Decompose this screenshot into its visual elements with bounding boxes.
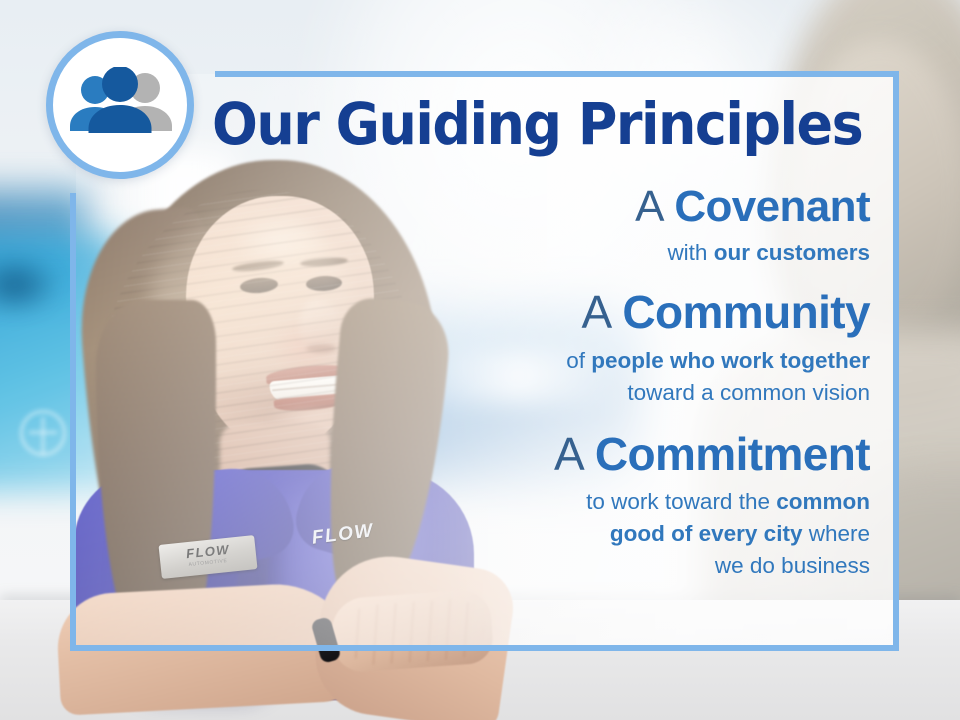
principle-subtext-line: toward a common vision <box>260 377 870 409</box>
principle-subtext-line: to work toward the common <box>260 486 870 518</box>
principle-word: Commitment <box>595 428 870 480</box>
principle-community: A Community of people who work together … <box>260 287 870 408</box>
subtext-segment: we do business <box>715 553 870 578</box>
principle-subtext-line: good of every city where <box>260 518 870 550</box>
frame-border-bottom <box>70 645 899 651</box>
principle-subtext: of people who work together toward a com… <box>260 345 870 409</box>
subtext-segment: toward a common vision <box>627 380 870 405</box>
principle-article: A <box>635 182 662 231</box>
principle-heading: A Community <box>260 287 870 339</box>
subtext-segment: of <box>566 348 591 373</box>
subtext-segment: to work toward the <box>586 489 776 514</box>
frame-border-left <box>70 193 76 651</box>
subtext-segment-bold: good of every city <box>610 521 803 546</box>
subtext-segment: with <box>667 240 713 265</box>
frame-border-top <box>215 71 899 77</box>
banner-image: FLOW AUTOMOTIVE FLOW Our Guid <box>0 0 960 720</box>
woman-finger-detail <box>342 597 486 667</box>
principle-commitment: A Commitment to work toward the common g… <box>260 429 870 582</box>
principle-word: Community <box>622 286 870 338</box>
principle-heading: A Covenant <box>260 182 870 231</box>
subtext-segment-bold: our customers <box>714 240 870 265</box>
people-group-badge <box>46 31 194 179</box>
principle-article: A <box>581 286 609 338</box>
principle-subtext-line: of people who work together <box>260 345 870 377</box>
subtext-segment: where <box>802 521 870 546</box>
principle-subtext: to work toward the common good of every … <box>260 486 870 582</box>
principle-subtext: with our customers <box>260 237 870 269</box>
principle-heading: A Commitment <box>260 429 870 481</box>
principle-covenant: A Covenant with our customers <box>260 182 870 269</box>
principles-list: A Covenant with our customers A Communit… <box>260 182 870 582</box>
subtext-segment-bold: people who work together <box>591 348 870 373</box>
page-title: Our Guiding Principles <box>212 95 826 153</box>
people-group-icon <box>65 67 175 143</box>
principle-word: Covenant <box>674 182 870 231</box>
subtext-segment-bold: common <box>776 489 870 514</box>
frame-border-right <box>893 71 899 651</box>
principle-subtext-line: with our customers <box>260 237 870 269</box>
principle-subtext-line: we do business <box>260 550 870 582</box>
principle-article: A <box>554 428 582 480</box>
